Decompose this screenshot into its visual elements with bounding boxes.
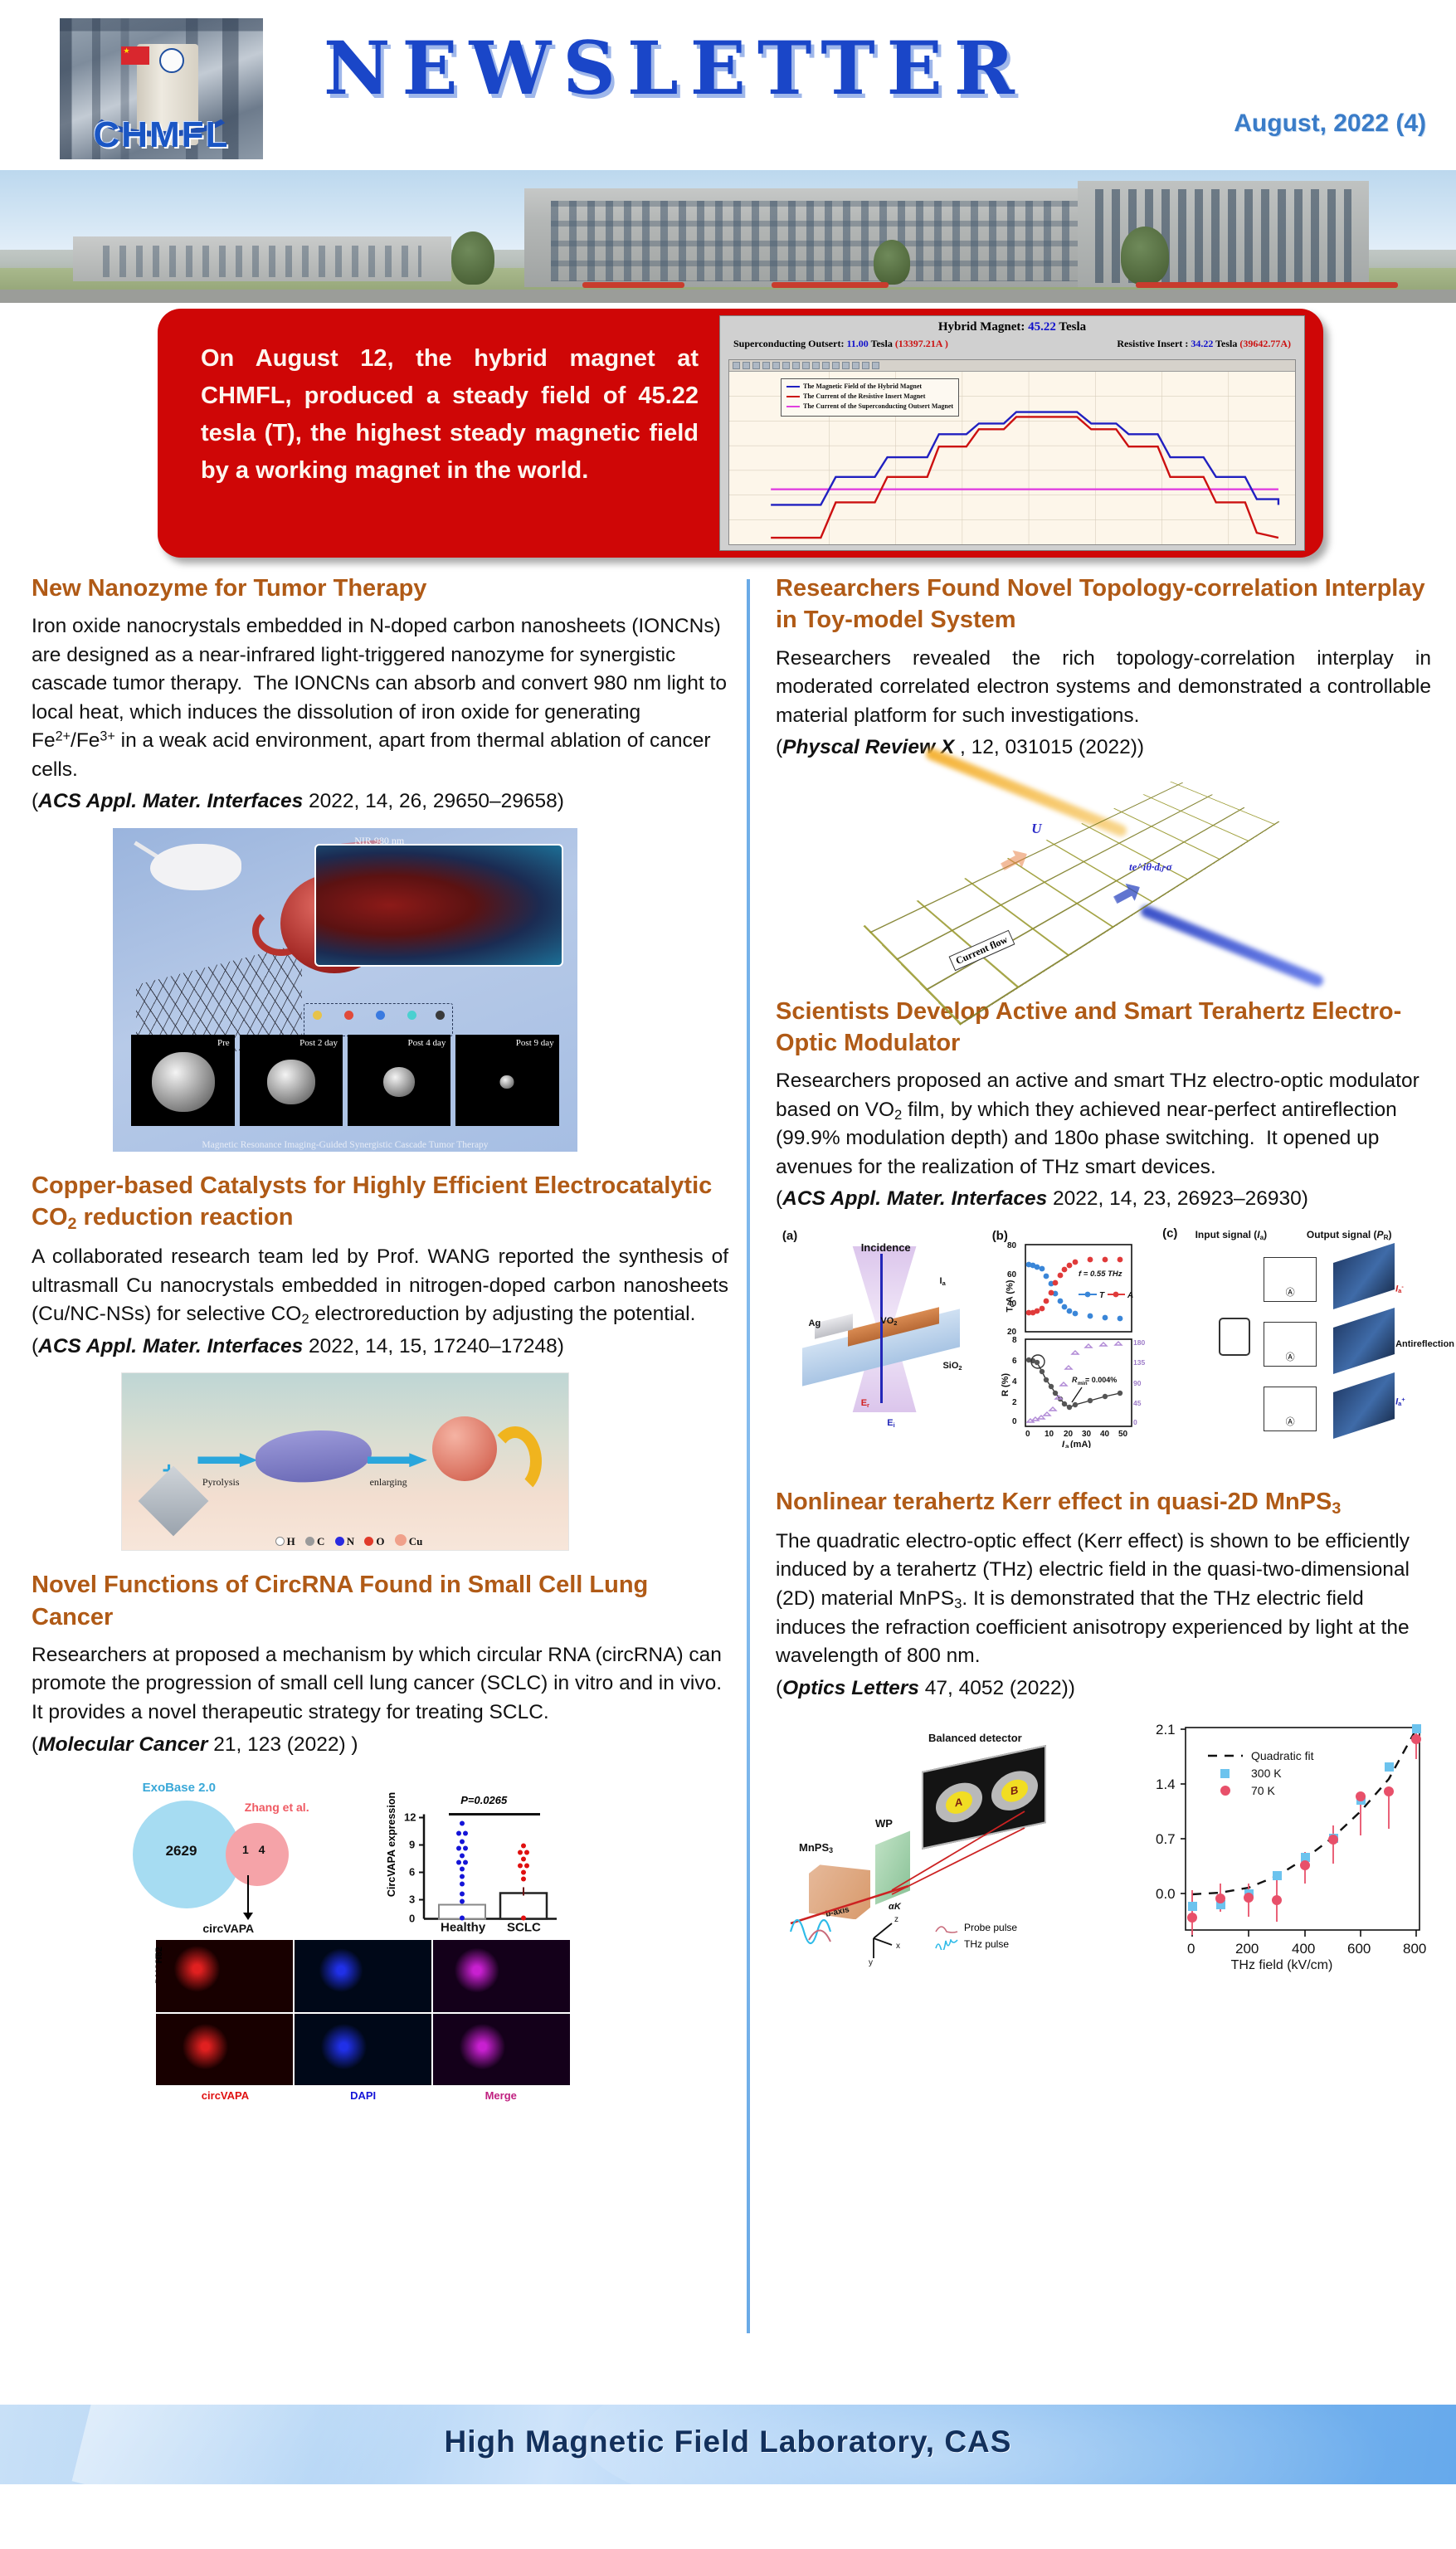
fluorescence-image-grid: DMS273 H82 [156,1940,569,2085]
toolbar-icon-zoom-in[interactable] [792,362,800,369]
svg-text:45: 45 [1133,1399,1142,1407]
svg-text:0: 0 [1133,1418,1137,1426]
col-label-merge: Merge [432,2089,570,2102]
mri-panel: Post 9 day [455,1035,558,1126]
article-title: Scientists Develop Active and Smart Tera… [776,996,1431,1060]
citation-journal: ACS Appl. Mater. Interfaces [38,790,303,812]
kerr-legend: Probe pulse THz pulse [935,1922,1017,1955]
citation-journal: Optics Letters [782,1677,919,1699]
article-body: Researchers proposed an active and smart… [776,1067,1431,1182]
atom-legend: H C N O Cu [122,1534,568,1548]
image-cell-dapi [295,2014,431,2086]
article-body: The quadratic electro-optic effect (Kerr… [776,1528,1431,1671]
svg-text:200: 200 [1235,1941,1259,1957]
svg-text:20: 20 [1064,1430,1074,1439]
ammeter-icon-top [1264,1257,1317,1302]
panel-label-a: (a) [782,1229,797,1243]
mouse-illustration [150,844,241,890]
legend-dot-n [335,1537,344,1546]
cell-mechanism-illustration [314,844,563,967]
circvapa-label: circVAPA [202,1922,254,1935]
svg-text:60: 60 [1007,1270,1017,1279]
magnet-title-prefix: Hybrid Magnet: [938,320,1028,334]
blue-edge-state [1139,904,1325,987]
ia-label: Ia [940,1276,946,1287]
magnet-chart-title: Hybrid Magnet: 45.22 Tesla [720,316,1304,334]
magnet-title-suffix: Tesla [1056,320,1086,334]
magnet-line-plot: The Magnetic Field of the Hybrid Magnet … [729,372,1295,544]
hopping-term-label: te^iθ·dᵢⱼ·σ [1129,860,1172,874]
incidence-label: Incidence [861,1241,911,1254]
svg-text:90: 90 [1133,1379,1142,1387]
svg-text:T: T [1099,1291,1105,1300]
ia-plus-label: Ia+ [1395,1396,1405,1407]
citation-details: 2022, 14, 15, 17240–17248) [303,1335,564,1357]
mri-panel: Post 4 day [348,1035,450,1126]
probe-pulse-icon [935,1923,958,1933]
svg-text:2.1: 2.1 [1156,1722,1176,1738]
insert-readout: Resistive Insert : 34.22 Tesla (39642.77… [1117,338,1291,350]
reaction-pathway-arrow [489,1426,542,1496]
svg-text:400: 400 [1292,1941,1315,1957]
svg-text:z: z [894,1915,898,1924]
figure-copper-synthesis: + Pyrolysis enlarging H C N O Cu [121,1372,569,1551]
venn-label-exobase: ExoBase 2.0 [143,1781,216,1795]
ag-label: Ag [809,1318,821,1328]
citation-journal: Molecular Cancer [38,1733,207,1756]
legend-dot-c [305,1537,314,1546]
nanozyme-species-legend [304,1003,453,1036]
beam-path-line [880,1254,883,1403]
kerr-polarization-plot: Polarization rotation (mrad) THz field (… [1132,1713,1431,1978]
image-column-labels: circVAPA DAPI Merge [156,2089,569,2102]
svg-text:SCLC: SCLC [507,1920,541,1934]
issue-date: August, 2022 (4) [1234,110,1426,138]
col-label-circvapa: circVAPA [156,2089,294,2102]
mri-caption: Pre [217,1038,230,1048]
bar-chart-svg: 129 630 [391,1794,565,1935]
mri-caption: Post 9 day [516,1038,554,1048]
legend-label-fit: Quadratic fit [1251,1749,1313,1762]
legend-dot-h [275,1537,285,1546]
legend-label-insert: The Current of the Resistive Insert Magn… [803,392,925,401]
toolbar-icon-stop[interactable] [842,362,850,369]
image-row-h82: H82 [156,2014,569,2086]
legend-entry-fit: Quadratic fit [1207,1749,1313,1762]
campus-banner-image [0,170,1456,303]
venn-count-intersection: 1 [242,1843,249,1856]
svg-text:600: 600 [1347,1941,1371,1957]
banner-tree [1121,227,1169,285]
probe-pulse-label: Probe pulse [964,1922,1017,1933]
magnet-plot-area: The Magnetic Field of the Hybrid Magnet … [728,359,1296,545]
legend-dot-cu [395,1534,407,1546]
toolbar-icon-last[interactable] [782,362,790,369]
legend-label-70k: 70 K [1251,1784,1275,1797]
legend-label-cu: Cu [409,1535,423,1547]
thz-application-diagram: Ia- Antireflection Ia+ [1217,1231,1424,1447]
ammeter-icon-bottom [1264,1387,1317,1431]
thz-plot-svg: 80604020 [999,1236,1148,1448]
article-citation: (Physcal Review X , 12, 031015 (2022)) [776,734,1431,763]
mri-image-row: Pre Post 2 day Post 4 day Post 9 day [131,1035,558,1126]
banner-tree [874,240,910,285]
tumor-blob [383,1067,415,1097]
legend-dot-o [364,1537,373,1546]
article-title: Nonlinear terahertz Kerr effect in quasi… [776,1486,1431,1519]
announcement-text: On August 12, the hybrid magnet at CHMFL… [201,340,699,490]
svg-text:y: y [869,1958,873,1967]
b-bottom-ylabel: R (%) [1001,1373,1010,1396]
output-panel-mid [1333,1308,1395,1374]
article-title: Researchers Found Novel Topology-correla… [776,573,1431,636]
venn-count-right: 4 [259,1843,265,1856]
banner-building-left [73,236,451,281]
svg-text:8: 8 [1012,1336,1017,1345]
article-copper-catalyst: Copper-based Catalysts for Highly Effici… [32,1170,728,1551]
svg-text:0: 0 [1012,1417,1017,1426]
legend-swatch-field [786,386,800,387]
enlarging-label: enlarging [370,1476,407,1489]
circle-marker-icon [1207,1786,1244,1796]
insert-unit: Tesla [1213,338,1239,349]
outsert-unit: Tesla [869,338,895,349]
svg-text:180: 180 [1133,1338,1145,1347]
citation-details: 47, 4052 (2022)) [919,1677,1075,1699]
article-citation: (ACS Appl. Mater. Interfaces 2022, 14, 2… [32,787,728,816]
magnet-plot-legend: The Magnetic Field of the Hybrid Magnet … [781,378,959,417]
mri-caption: Post 4 day [407,1038,446,1048]
svg-text:f = 0.55 THz: f = 0.55 THz [1079,1270,1122,1279]
antireflection-label: Antireflection [1395,1339,1454,1349]
image-cell-merge [433,2014,570,2086]
outsert-current: (13397.21A ) [895,338,948,349]
toolbar-icon-scale[interactable] [822,362,830,369]
magnet-title-value: 45.22 [1028,320,1056,334]
article-citation: (Optics Letters 47, 4052 (2022)) [776,1674,1431,1703]
insert-label: Resistive Insert : [1117,338,1191,349]
svg-text:12: 12 [404,1811,416,1823]
article-citation: (ACS Appl. Mater. Interfaces 2022, 14, 1… [32,1333,728,1362]
legend-label-c: C [317,1535,324,1547]
article-body: Researchers revealed the rich topology-c… [776,645,1431,731]
column-divider [747,579,750,2333]
legend-entry: The Magnetic Field of the Hybrid Magnet [786,383,953,391]
figure-topology-lattice: U te^iθ·dᵢⱼ·σ Current flow [846,766,1361,977]
toolbar-icon-pointer[interactable] [733,362,740,369]
article-citation: (Molecular Cancer 21, 123 (2022) ) [32,1731,728,1760]
legend-entry: The Current of the Resistive Insert Magn… [786,392,953,401]
legend-entry-70k: 70 K [1207,1784,1313,1797]
toolbar-icon-first[interactable] [752,362,760,369]
thz-bplots: 80604020 [999,1236,1148,1448]
svg-text:2: 2 [1012,1398,1017,1407]
er-label: Er [861,1398,869,1409]
article-body: Iron oxide nanocrystals embedded in N-do… [32,612,728,784]
article-thz-modulator: Scientists Develop Active and Smart Tera… [776,996,1431,1468]
svg-text:0.7: 0.7 [1156,1831,1176,1847]
legend-swatch-insert [786,396,800,397]
venn-count-left: 2629 [166,1843,197,1859]
plot-toolbar[interactable] [729,360,1295,372]
legend-label-field: The Magnetic Field of the Hybrid Magnet [803,383,922,391]
toolbar-icon-pan[interactable] [812,362,820,369]
thz-pulse-icon [935,1939,958,1950]
announcement-banner: On August 12, the hybrid magnet at CHMFL… [158,309,1323,558]
citation-details: 21, 123 (2022) ) [207,1733,358,1756]
banner-flowerbed [772,282,888,288]
cu-nanocrystal-illustration [432,1416,497,1481]
legend-label-o: O [376,1535,384,1547]
svg-text:1.4: 1.4 [1156,1777,1176,1792]
svg-text:Healthy: Healthy [441,1920,486,1934]
legend-dot-n [376,1011,385,1020]
ei-label: Ei [887,1418,894,1429]
article-nanozyme: New Nanozyme for Tumor Therapy Iron oxid… [32,573,728,1152]
precursor-crystal-icon [139,1466,209,1537]
legend-dot-h [407,1011,416,1020]
mri-caption: Post 2 day [299,1038,338,1048]
toolbar-icon-zoom[interactable] [743,362,750,369]
tumor-blob [267,1060,315,1104]
carbon-nanosheet-illustration [256,1424,372,1488]
legend-swatch-outsert [786,406,800,407]
svg-text:(mA): (mA) [1070,1440,1091,1448]
banner-flowerbed [582,282,684,288]
thz-pulse-label: THz pulse [964,1938,1009,1950]
right-column: Researchers Found Novel Topology-correla… [776,573,1431,2010]
toolbar-icon-prev[interactable] [762,362,770,369]
sio2-label: SiO2 [942,1361,962,1372]
article-title: Copper-based Catalysts for Highly Effici… [32,1170,728,1235]
svg-text:50: 50 [1118,1430,1128,1439]
chmfl-logo: CHMFL [60,18,263,159]
ia-minus-label: Ia- [1395,1283,1404,1294]
output-panel-bottom [1333,1372,1395,1439]
svg-text:135: 135 [1133,1358,1145,1367]
square-marker-icon [1207,1768,1244,1778]
banner-tree [451,232,494,285]
svg-text:6: 6 [1012,1357,1017,1366]
insert-value: 34.22 [1191,338,1213,349]
article-title: Novel Functions of CircRNA Found in Smal… [32,1569,728,1633]
legend-entry-300k: 300 K [1207,1767,1313,1780]
citation-journal: ACS Appl. Mater. Interfaces [782,1187,1047,1210]
svg-text:A: A [1127,1291,1133,1300]
legend-label-outsert: The Current of the Superconducting Outse… [803,402,953,411]
source-device-icon [1219,1318,1250,1356]
outsert-readout: Superconducting Outsert: 11.00 Tesla (13… [733,338,948,350]
svg-text:x: x [896,1942,900,1951]
pyrolysis-arrow-icon [197,1453,257,1467]
articles-container: New Nanozyme for Tumor Therapy Iron oxid… [0,573,1456,2383]
ammeter-icon-mid [1264,1322,1317,1367]
image-cell-circvapa [156,1940,293,2012]
svg-text:80: 80 [1007,1241,1017,1250]
col-label-dapi: DAPI [295,2089,432,2102]
article-topology: Researchers Found Novel Topology-correla… [776,573,1431,977]
legend-dot-o [344,1011,353,1020]
toolbar-icon-next[interactable] [772,362,780,369]
image-cell-circvapa [156,2014,293,2086]
page-title: NEWSLETTER [324,25,1026,111]
legend-label-300k: 300 K [1251,1767,1282,1780]
left-column: New Nanozyme for Tumor Therapy Iron oxid… [32,573,728,2117]
kerr-optical-setup: Balanced detector A B WP MnPS3 b-axis αK [776,1716,1108,1981]
figure-thz-modulator: (a) Incidence Ag VO2 SiO2 Er Ei Ia (b) [776,1219,1431,1468]
figure-circrna: ExoBase 2.0 Zhang et al. 2629 1 4 circVA… [114,1771,579,2098]
enlarging-arrow-icon [368,1453,427,1467]
svg-text:3: 3 [409,1893,415,1905]
svg-text:4: 4 [1012,1377,1017,1387]
svg-text:0: 0 [409,1912,415,1924]
article-title: New Nanozyme for Tumor Therapy [32,573,728,604]
tumor-blob [500,1075,514,1089]
page-footer: High Magnetic Field Laboratory, CAS [0,2383,1456,2549]
toolbar-icon-zoom-out[interactable] [802,362,810,369]
image-cell-merge [433,1940,570,2012]
citation-details: 2022, 14, 26, 29650–29658) [303,790,564,812]
legend-entry-thz: THz pulse [935,1938,1017,1950]
svg-text:= 0.004%: = 0.004% [1085,1376,1117,1384]
logo-label: CHMFL [60,115,263,156]
article-body: A collaborated research team led by Prof… [32,1243,728,1329]
banner-flowerbed [1136,282,1398,288]
svg-text:a: a [1065,1443,1069,1448]
legend-dot-c [436,1011,445,1020]
legend-label-n: N [347,1535,354,1547]
outsert-label: Superconducting Outsert: [733,338,846,349]
svg-text:30: 30 [1082,1430,1092,1439]
legend-entry-probe: Probe pulse [935,1922,1017,1933]
banner-building-right [1078,181,1369,287]
insert-current: (39642.77A) [1239,338,1291,349]
mri-panel: Pre [131,1035,234,1126]
legend-entry: The Current of the Superconducting Outse… [786,402,953,411]
output-panel-top [1333,1243,1395,1309]
mri-panel: Post 2 day [240,1035,343,1126]
article-citation: (ACS Appl. Mater. Interfaces 2022, 14, 2… [776,1185,1431,1214]
circvapa-bar-chart: CircVAPA expression P=0.0265 129 630 [391,1794,565,1935]
venn-circle-zhang [226,1823,289,1886]
magnet-chart-subtitles: Superconducting Outsert: 11.00 Tesla (13… [720,334,1304,353]
kerr-plot-legend: Quadratic fit 300 K 70 K [1207,1749,1313,1801]
article-circrna: Novel Functions of CircRNA Found in Smal… [32,1569,728,2098]
svg-text:9: 9 [409,1838,415,1850]
legend-dot-iron-oxide [313,1011,322,1020]
vo2-label: VO2 [880,1316,897,1327]
toolbar-icon-save[interactable] [852,362,859,369]
row-label-h82: H82 [154,1947,164,1963]
outsert-value: 11.00 [846,338,868,349]
venn-label-zhang: Zhang et al. [245,1801,309,1814]
figure-kerr-setup: Balanced detector A B WP MnPS3 b-axis αK [776,1706,1431,1992]
svg-text:0: 0 [1187,1941,1195,1957]
china-flag-icon [121,46,149,65]
legend-label-h: H [287,1535,295,1547]
dashed-line-icon [1207,1751,1244,1761]
tumor-blob [152,1052,215,1112]
svg-text:800: 800 [1403,1941,1426,1957]
citation-journal: ACS Appl. Mater. Interfaces [38,1335,303,1357]
page-header: CHMFL NEWSLETTER August, 2022 (4) [0,0,1456,170]
svg-text:0.0: 0.0 [1156,1886,1176,1902]
panel-label-c: (c) [1162,1226,1177,1240]
banner-road [0,290,1456,303]
hybrid-magnet-chart: Hybrid Magnet: 45.22 Tesla Superconducti… [719,315,1305,551]
venn-down-arrow-icon [247,1875,249,1913]
article-kerr-effect: Nonlinear terahertz Kerr effect in quasi… [776,1486,1431,1992]
b-top-ylabel: T, A (%) [1005,1280,1015,1313]
pyrolysis-label: Pyrolysis [202,1476,240,1489]
image-row-dms273: DMS273 [156,1940,569,2012]
interaction-U-label: U [1031,821,1041,837]
svg-text:0: 0 [1025,1430,1030,1439]
svg-text:10: 10 [1045,1430,1054,1439]
svg-text:40: 40 [1100,1430,1110,1439]
toolbar-icon-settings[interactable] [862,362,869,369]
svg-text:6: 6 [409,1865,415,1878]
citation-details: , 12, 031015 (2022)) [954,736,1144,758]
institute-seal-icon [159,48,184,73]
figure-nanozyme: IONCN NIR 980 nm Pre Post 2 day Post 4 d… [113,828,577,1152]
svg-text:R: R [1072,1376,1078,1384]
footer-title: High Magnetic Field Laboratory, CAS [0,2425,1456,2459]
citation-details: 2022, 14, 23, 26923–26930) [1047,1187,1308,1210]
figure-caption: Magnetic Resonance Imaging-Guided Synerg… [113,1140,577,1150]
image-cell-dapi [295,1940,431,2012]
article-body: Researchers at proposed a mechanism by w… [32,1641,728,1728]
toolbar-icon-export[interactable] [872,362,879,369]
toolbar-icon-refresh[interactable] [832,362,840,369]
